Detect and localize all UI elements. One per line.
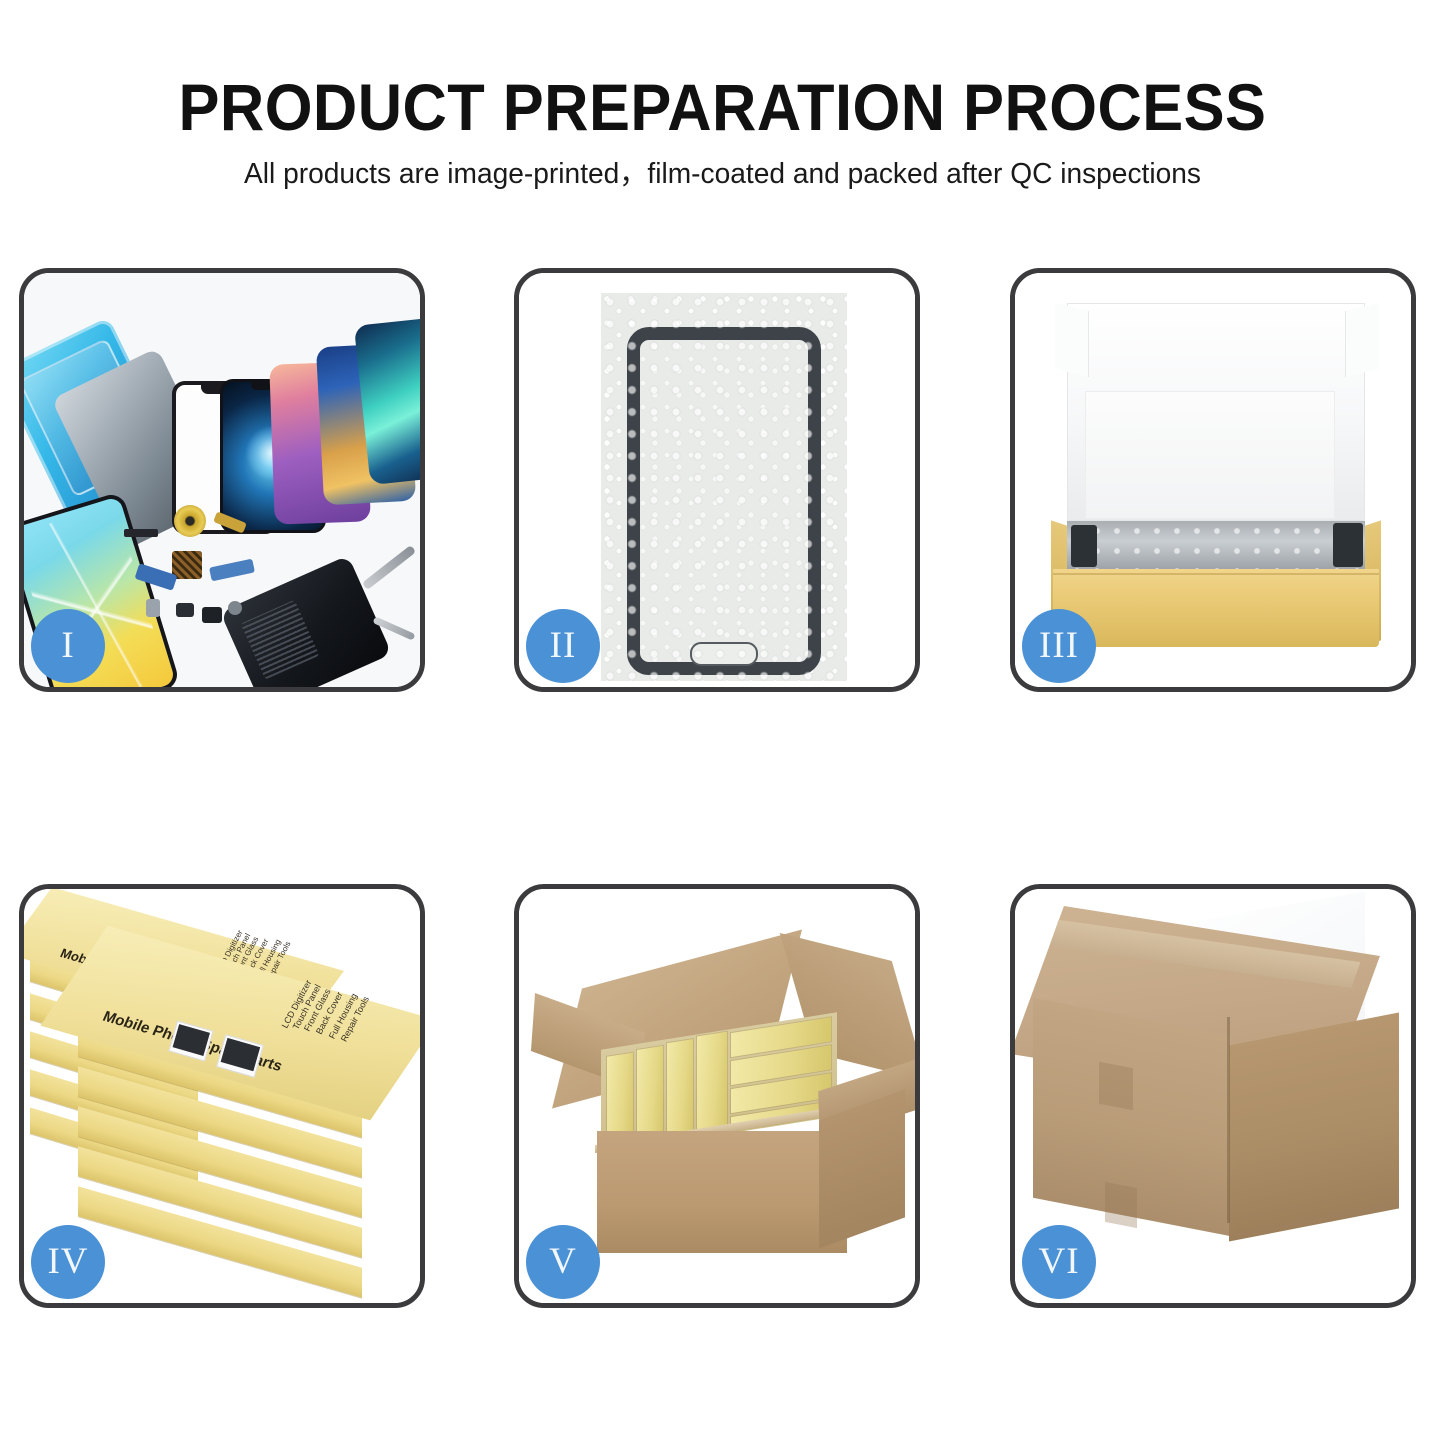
process-step-panel-4: Mobile Phone Spare Parts LCD Digitizer T… bbox=[19, 884, 425, 1308]
phone-logic-board bbox=[220, 555, 392, 687]
sealed-carton-tab-bottom bbox=[1105, 1182, 1137, 1228]
step-badge-5: V bbox=[526, 1225, 600, 1299]
part-screw bbox=[228, 601, 242, 615]
box-lid-left-flap bbox=[1055, 303, 1089, 377]
box-lid-right-flap bbox=[1345, 303, 1379, 377]
step-badge-2: II bbox=[526, 609, 600, 683]
carton-front-panel bbox=[597, 1131, 847, 1253]
process-step-panel-5: V bbox=[514, 884, 920, 1308]
screen-corner-right bbox=[1333, 523, 1363, 567]
process-step-panel-3: III bbox=[1010, 268, 1416, 692]
process-step-panel-1: I bbox=[19, 268, 425, 692]
process-step-panel-2: II bbox=[514, 268, 920, 692]
step-badge-3: III bbox=[1022, 609, 1096, 683]
sealed-carton-side bbox=[1229, 1012, 1399, 1241]
part-speaker-bar bbox=[124, 529, 158, 537]
white-foam-insert bbox=[1085, 391, 1335, 519]
part-camera-module bbox=[176, 603, 194, 617]
part-sim-tray bbox=[146, 599, 160, 617]
part-tweezers bbox=[362, 545, 416, 590]
wrapped-screen-in-box bbox=[1067, 521, 1365, 571]
box-lip-line bbox=[1053, 573, 1379, 575]
carton-yellow-box-4 bbox=[697, 1032, 727, 1135]
step-badge-1: I bbox=[31, 609, 105, 683]
step-badge-4: IV bbox=[31, 1225, 105, 1299]
screen-corner-left bbox=[1071, 525, 1097, 567]
part-flex-cable-2 bbox=[209, 559, 255, 582]
part-connector bbox=[202, 607, 222, 623]
screen-frame bbox=[627, 327, 821, 675]
part-chip bbox=[172, 551, 202, 579]
part-coil bbox=[174, 505, 206, 537]
carton-yellow-box-2 bbox=[637, 1046, 663, 1144]
page-subtitle: All products are image-printed，film-coat… bbox=[22, 158, 1424, 191]
sealed-carton-tab-top bbox=[1099, 1062, 1133, 1111]
bubble-wrap-sheet bbox=[601, 293, 847, 681]
yellow-box-front bbox=[1053, 569, 1379, 647]
product-preparation-infographic: PRODUCT PREPARATION PROCESS All products… bbox=[0, 0, 1445, 1445]
page-title: PRODUCT PREPARATION PROCESS bbox=[51, 74, 1395, 140]
carton-yellow-box-3 bbox=[667, 1039, 693, 1139]
step-badge-6: VI bbox=[1022, 1225, 1096, 1299]
sealed-carton-edge bbox=[1227, 1017, 1230, 1223]
process-step-panel-6: VI bbox=[1010, 884, 1416, 1308]
